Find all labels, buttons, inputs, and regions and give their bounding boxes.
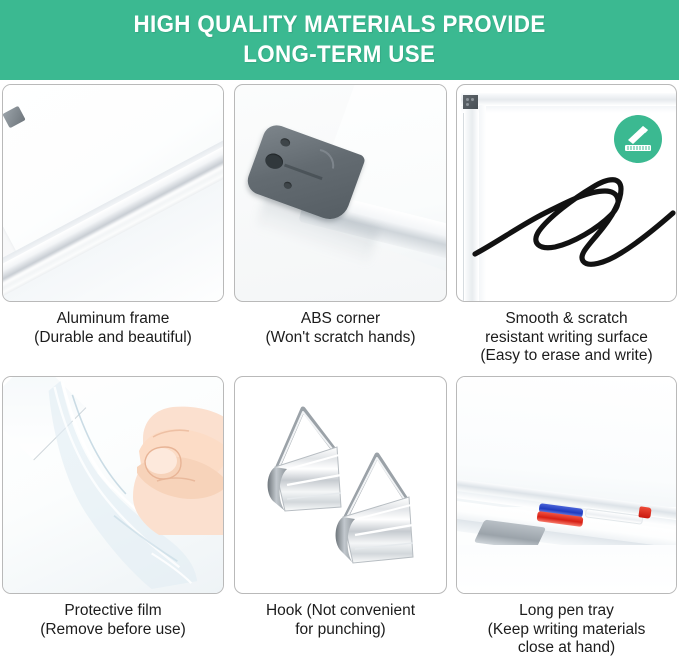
caption-line: ABS corner: [234, 310, 447, 329]
feature-row-top: Aluminum frame (Durable and beautiful): [0, 84, 679, 374]
abs-corner-caption: ABS corner (Won't scratch hands): [234, 310, 447, 347]
frame-rail-top-bevel: [461, 106, 676, 113]
pen-tray-caption: Long pen tray (Keep writing materials cl…: [456, 602, 677, 658]
pen-tray-photo: [456, 376, 677, 594]
feature-row-bottom: Protective film (Remove before use): [0, 376, 679, 666]
hooks-illustration: [235, 377, 447, 594]
caption-line: (Easy to erase and write): [456, 347, 677, 366]
caption-line: Smooth & scratch: [456, 310, 677, 329]
feature-cell-pen-tray: Long pen tray (Keep writing materials cl…: [456, 376, 677, 666]
hook-item: [336, 455, 413, 563]
caption-line: Long pen tray: [456, 602, 677, 621]
corner-hole-icon: [283, 181, 293, 190]
frame-rail-top-shape: [461, 93, 676, 105]
caption-line: (Won't scratch hands): [234, 329, 447, 348]
protective-film-caption: Protective film (Remove before use): [2, 602, 224, 639]
headline-line-1: HIGH QUALITY MATERIALS PROVIDE: [133, 10, 545, 40]
caption-line: Protective film: [2, 602, 224, 621]
hand-peeling-film: [99, 385, 224, 535]
caption-line: for punching): [234, 621, 447, 640]
caption-line: (Keep writing materials: [456, 621, 677, 640]
aluminum-frame-photo: [2, 84, 224, 302]
backdrop-lower-shape: [457, 545, 676, 593]
caption-line: (Durable and beautiful): [2, 329, 224, 348]
aluminum-frame-caption: Aluminum frame (Durable and beautiful): [2, 310, 224, 347]
white-marker-red-cap: [638, 506, 651, 518]
abs-corner-photo: [234, 84, 447, 302]
feature-cell-abs-corner: ABS corner (Won't scratch hands): [234, 84, 447, 374]
feature-cell-hooks: Hook (Not convenient for punching): [234, 376, 447, 666]
feature-cell-aluminum-frame: Aluminum frame (Durable and beautiful): [2, 84, 224, 374]
headline-banner: HIGH QUALITY MATERIALS PROVIDE LONG-TERM…: [0, 0, 679, 80]
feature-grid: Aluminum frame (Durable and beautiful): [0, 84, 679, 665]
writing-surface-photo: [456, 84, 677, 302]
product-feature-infographic: HIGH QUALITY MATERIALS PROVIDE LONG-TERM…: [0, 0, 679, 665]
corner-hole-icon: [263, 151, 285, 171]
feature-cell-protective-film: Protective film (Remove before use): [2, 376, 224, 666]
hooks-photo: [234, 376, 447, 594]
feature-cell-writing-surface: Smooth & scratch resistant writing surfa…: [456, 84, 677, 374]
caption-line: Aluminum frame: [2, 310, 224, 329]
headline-line-2: LONG-TERM USE: [243, 40, 435, 70]
caption-line: Hook (Not convenient: [234, 602, 447, 621]
caption-line: resistant writing surface: [456, 329, 677, 348]
protective-film-photo: [2, 376, 224, 594]
marker-and-eraser-icon: [621, 122, 655, 156]
easy-erase-badge: [614, 115, 662, 163]
hooks-caption: Hook (Not convenient for punching): [234, 602, 447, 639]
caption-line: (Remove before use): [2, 621, 224, 640]
writing-surface-caption: Smooth & scratch resistant writing surfa…: [456, 310, 677, 366]
abs-corner-piece-shape: [463, 95, 478, 109]
caption-line: close at hand): [456, 639, 677, 658]
corner-hole-icon: [279, 137, 291, 148]
corner-arc-detail: [294, 142, 341, 189]
hook-item: [268, 409, 341, 511]
